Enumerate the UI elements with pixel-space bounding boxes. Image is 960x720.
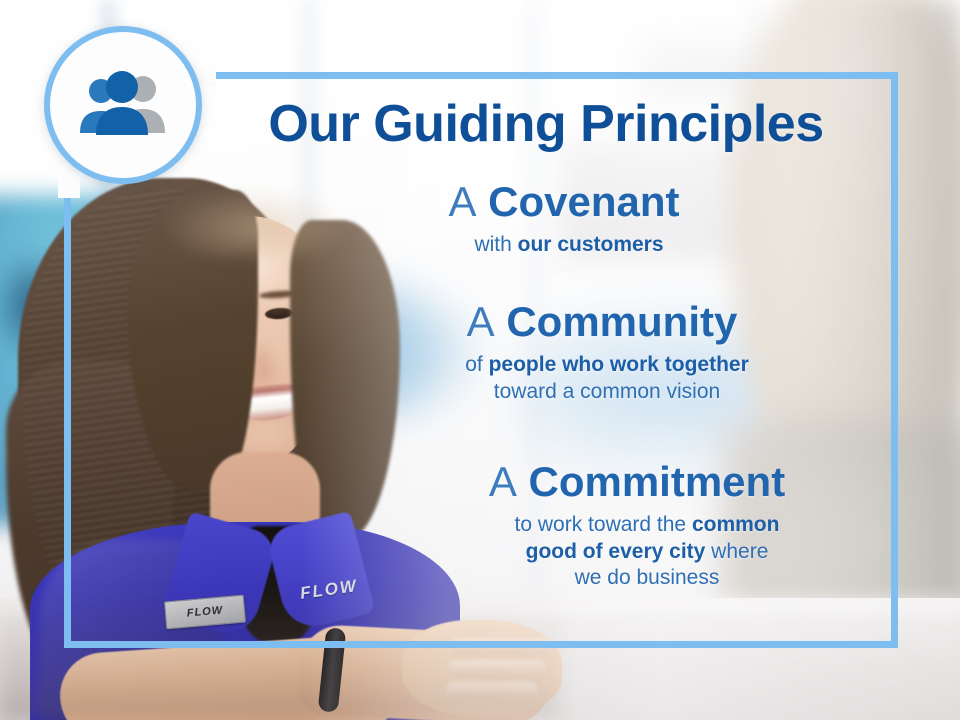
principle-text: of xyxy=(465,353,488,376)
principle-description: to work toward the common good of every … xyxy=(314,512,894,593)
page-title: Our Guiding Principles xyxy=(216,98,876,150)
principle-line: toward a common vision xyxy=(340,379,874,406)
principle-keyword: Commitment xyxy=(529,458,786,505)
principle-line: good of every city where xyxy=(400,539,894,566)
principle-article: A xyxy=(489,458,517,505)
principle-text-emphasis: people who work together xyxy=(489,353,749,376)
principle-article: A xyxy=(467,298,495,345)
principle-keyword: Covenant xyxy=(488,178,679,225)
principle-text-emphasis: good of every city xyxy=(526,540,706,563)
principle-covenant: A Covenant with our customers xyxy=(284,180,844,259)
principle-description: of people who work together toward a com… xyxy=(294,352,874,406)
principle-text-emphasis: our customers xyxy=(518,233,664,256)
principle-heading: A Commitment xyxy=(314,460,894,504)
principle-article: A xyxy=(448,178,476,225)
principle-line: to work toward the common xyxy=(400,512,894,539)
principle-text: toward a common vision xyxy=(494,380,720,403)
principle-heading: A Community xyxy=(294,300,874,344)
principle-text-emphasis: common xyxy=(692,513,780,536)
principle-text: where xyxy=(705,540,768,563)
text-content: Our Guiding Principles A Covenant with o… xyxy=(64,72,898,648)
principle-line: of people who work together xyxy=(340,352,874,379)
principle-text: with xyxy=(474,233,517,256)
principle-text: to work toward the xyxy=(515,513,692,536)
principle-commitment: A Commitment to work toward the common g… xyxy=(314,460,894,592)
principle-community: A Community of people who work together … xyxy=(294,300,874,405)
guiding-principles-graphic: FLOW FLOW O xyxy=(0,0,960,720)
principle-line: with our customers xyxy=(294,232,844,259)
principle-description: with our customers xyxy=(284,232,844,259)
principle-keyword: Community xyxy=(506,298,737,345)
principle-heading: A Covenant xyxy=(284,180,844,224)
principle-line: we do business xyxy=(400,565,894,592)
principle-text: we do business xyxy=(575,566,720,589)
